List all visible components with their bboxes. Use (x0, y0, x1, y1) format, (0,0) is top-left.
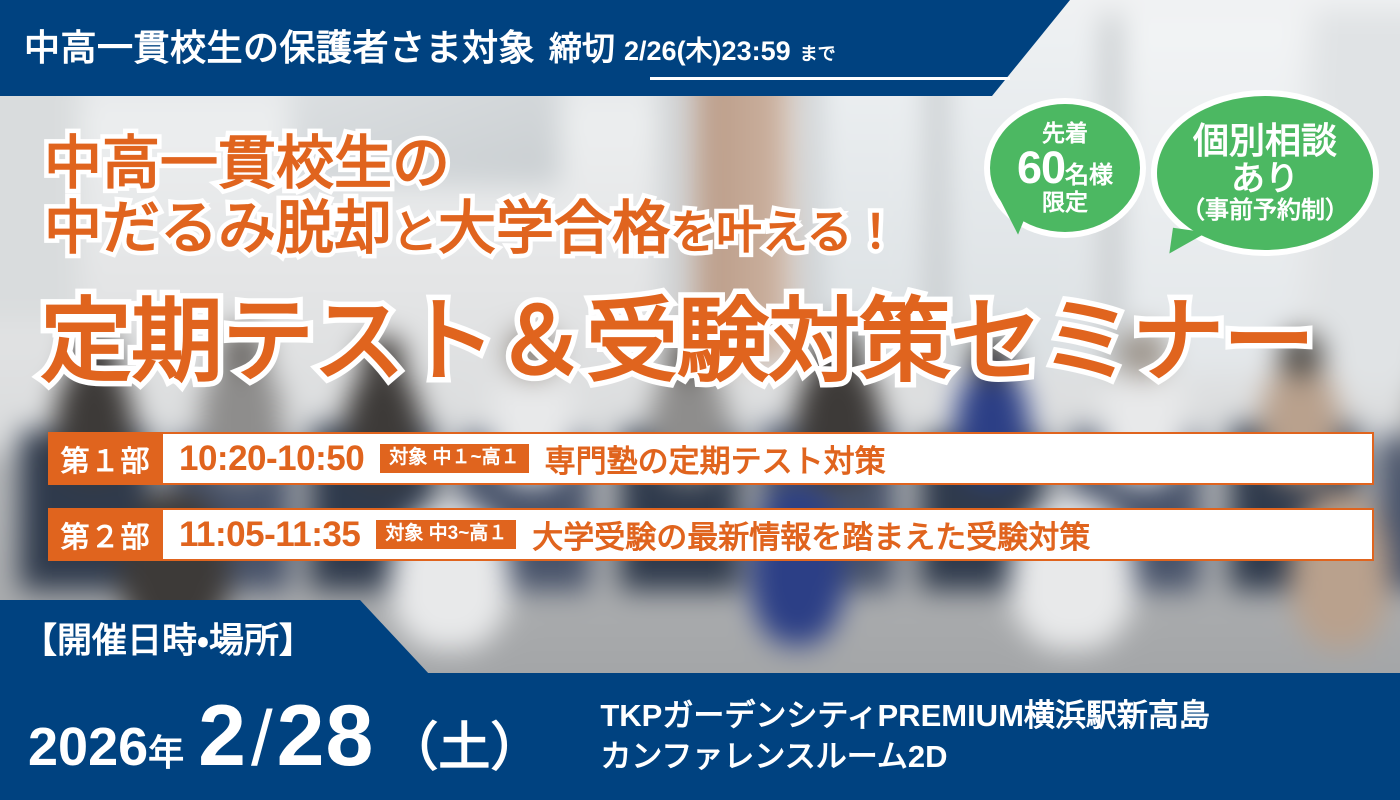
badge-consult-line3: （事前予約制） (1181, 198, 1349, 224)
header-audience-text: 中高一貫校生の保護者さま対象 (24, 30, 535, 66)
session-2-target-badge: 対象 中3~高１ (376, 520, 516, 549)
session-row-2: 第２部 11:05-11:35 対象 中3~高１ 大学受験の最新情報を踏まえた受… (48, 508, 1374, 561)
event-venue-line2: カンファレンスルーム2D (600, 737, 1210, 777)
deadline-suffix: まで (800, 45, 836, 63)
event-details-bar: 2026 年 2 / 28 （土） TKPガーデンシティPREMIUM横浜駅新高… (0, 673, 1400, 800)
badge-seats-line3: 限定 (1042, 191, 1088, 214)
event-day: 28 (277, 687, 375, 786)
session-2-target-value: 中3~高１ (429, 523, 508, 544)
badge-seats-number: 60 (1017, 145, 1065, 191)
session-1-part: 第１部 (48, 432, 163, 485)
deadline-group: 締切 2/26(木)23:59 まで (549, 32, 836, 65)
hero-copy-line2-a: 中だるみ脱却 (44, 196, 392, 261)
hero-copy-line2-b: と (392, 206, 438, 258)
session-2-part: 第２部 (48, 508, 163, 561)
speech-bubble-tail-icon (1169, 228, 1206, 258)
badge-consult-line2: あり (1231, 161, 1299, 198)
deadline-value: 2/26(木)23:59 (624, 38, 791, 65)
hero-copy-line2-d: を叶える！ (670, 206, 899, 258)
header-bar: 中高一貫校生の保護者さま対象 締切 2/26(木)23:59 まで (0, 0, 1070, 96)
deadline-label: 締切 (549, 32, 615, 65)
hero-copy: 中高一貫校生の 中だるみ脱却と大学合格を叶える！ (44, 132, 899, 262)
event-section-label: 【開催日時・場所】 (0, 600, 430, 675)
badge-individual-consultation: 個別相談 あり （事前予約制） (1157, 96, 1373, 250)
event-section-label-text: 【開催日時・場所】 (22, 612, 314, 663)
event-year: 2026 (28, 716, 148, 778)
session-2-topic: 大学受験の最新情報を踏まえた受験対策 (532, 512, 1090, 557)
event-month: 2 (198, 687, 247, 786)
page-title: 定期テスト＆受験対策セミナー (40, 296, 1314, 388)
event-venue: TKPガーデンシティPREMIUM横浜駅新高島 カンファレンスルーム2D (600, 696, 1210, 777)
event-day-of-week: （土） (386, 705, 542, 780)
event-venue-line1: TKPガーデンシティPREMIUM横浜駅新高島 (600, 696, 1210, 736)
hero-copy-line1: 中高一貫校生の (44, 132, 899, 197)
event-year-suffix: 年 (148, 724, 184, 776)
badge-consult-line1: 個別相談 (1193, 122, 1337, 161)
event-date-separator: / (251, 693, 273, 784)
session-1-topic: 専門塾の定期テスト対策 (545, 436, 886, 481)
event-date: 2026 年 2 / 28 （土） (0, 687, 542, 786)
hero-copy-line2-c: 大学合格 (438, 196, 670, 261)
session-2-target-label: 対象 (385, 523, 423, 544)
badge-limited-seats: 先着 60 名様 限定 (990, 104, 1140, 232)
session-1-target-label: 対象 (389, 447, 427, 468)
session-1-time: 10:20-10:50 (179, 439, 364, 479)
deadline-underline (650, 77, 1010, 80)
seminar-banner: 中高一貫校生の保護者さま対象 締切 2/26(木)23:59 まで 先着 60 … (0, 0, 1400, 800)
session-row-1: 第１部 10:20-10:50 対象 中１~高１ 専門塾の定期テスト対策 (48, 432, 1374, 485)
badge-seats-number-unit: 名様 (1065, 164, 1113, 188)
session-1-target-value: 中１~高１ (433, 447, 520, 468)
hero-copy-line2: 中だるみ脱却と大学合格を叶える！ (44, 197, 899, 262)
session-1-target-badge: 対象 中１~高１ (380, 444, 528, 473)
session-2-time: 11:05-11:35 (179, 515, 360, 555)
